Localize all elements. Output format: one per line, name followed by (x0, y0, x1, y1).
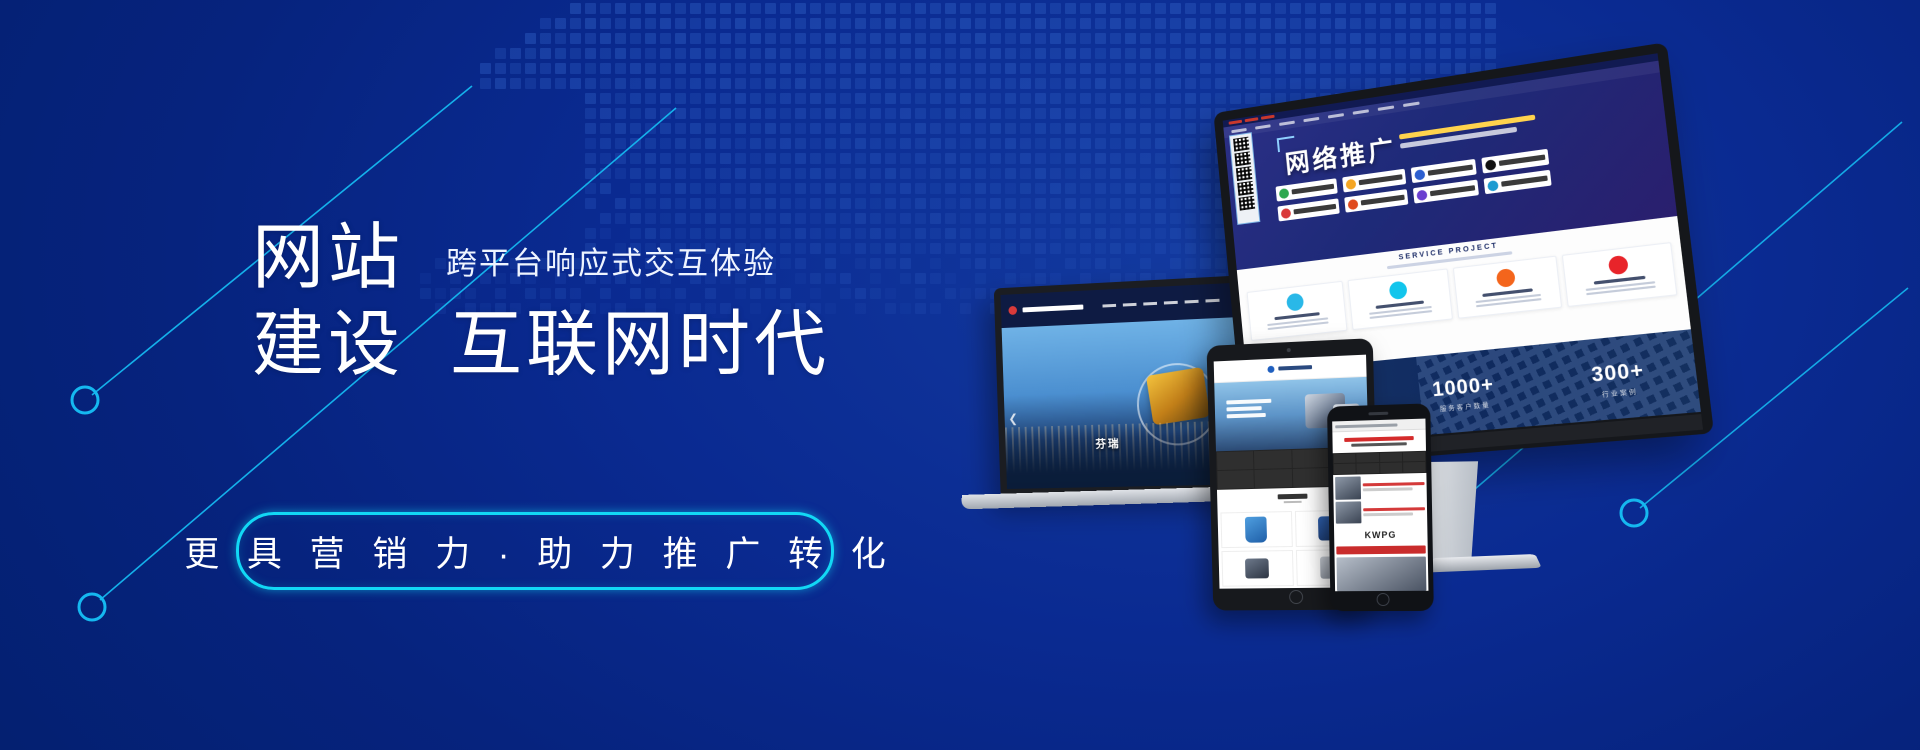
badge-douyin (1481, 149, 1549, 174)
headline-subtitle: 跨平台响应式交互体验 (446, 238, 776, 295)
badge-baidu (1411, 159, 1477, 183)
laptop-prev-arrow-icon: ❮ (1008, 411, 1018, 425)
stat-item: 300+ 行业案例 (1590, 359, 1647, 400)
phone-speaker-icon (1368, 412, 1388, 416)
badge-shenma (1344, 189, 1408, 213)
product-tile (1220, 511, 1292, 548)
list-item (1336, 500, 1426, 524)
phone-mockup: KWPG (1328, 405, 1432, 611)
headline-block: 网站 跨平台响应式交互体验 建设 互联网时代 (252, 222, 872, 383)
laptop-hero-machine (1146, 367, 1210, 426)
headline-line-2: 建设 (252, 309, 404, 382)
device-mockup-group: ❮ 芬瑞 (1080, 110, 1840, 630)
tablet-site-name (1278, 365, 1312, 370)
phone-brand-text: KWPG (1365, 529, 1397, 539)
badge-smart (1413, 180, 1479, 204)
service-card (1347, 269, 1452, 331)
phone-footer (1334, 544, 1428, 592)
phone-list (1333, 473, 1427, 526)
badge-360 (1275, 178, 1337, 201)
badge-sogou (1342, 169, 1406, 193)
service-card (1247, 281, 1348, 341)
phone-banner (1332, 430, 1426, 453)
service-card (1452, 256, 1562, 319)
stat-number: 1000+ (1431, 373, 1495, 402)
tablet-logo-icon (1267, 366, 1274, 373)
tagline-text: 更 具 营 销 力 · 助 力 推 广 转 化 (175, 526, 895, 577)
tagline-pill: 更 具 营 销 力 · 助 力 推 广 转 化 (236, 512, 834, 590)
stat-item: 1000+ 服务客户数量 (1431, 373, 1496, 413)
laptop-site-name (1023, 305, 1084, 313)
tablet-camera-icon (1287, 348, 1291, 352)
laptop-hero-caption: 芬瑞 (1095, 435, 1121, 452)
badge-toutiao (1277, 198, 1339, 221)
service-card (1562, 242, 1677, 307)
headline-line-1: 网站 (252, 222, 404, 295)
phone-home-button[interactable] (1376, 593, 1389, 606)
monitor-qr-sidebar (1229, 132, 1260, 225)
laptop-nav (1103, 299, 1220, 308)
list-item (1335, 475, 1425, 500)
headline-line-2b: 互联网时代 (450, 309, 830, 382)
product-tile (1221, 550, 1293, 586)
laptop-site-logo-icon (1008, 306, 1017, 315)
tablet-home-button[interactable] (1289, 590, 1303, 604)
hero-banner: 网站 跨平台响应式交互体验 建设 互联网时代 更 具 营 销 力 · 助 力 推… (0, 0, 1920, 750)
monitor-hero-subtitle (1399, 115, 1537, 153)
stat-number: 300+ (1590, 359, 1645, 388)
phone-nav-grid (1333, 451, 1427, 475)
phone-brand: KWPG (1334, 525, 1428, 545)
badge-quanwang (1484, 170, 1552, 195)
